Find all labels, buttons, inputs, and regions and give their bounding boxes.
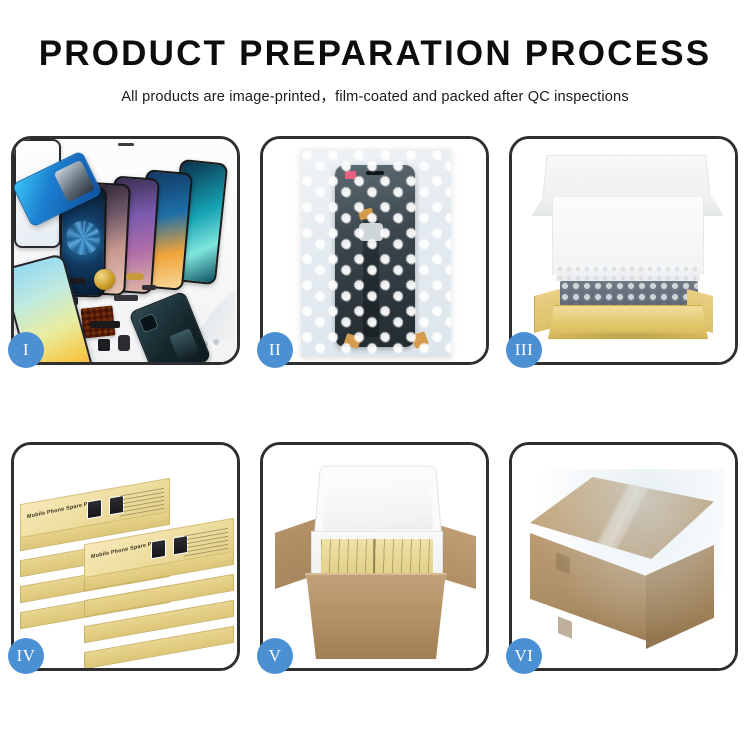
open-box-with-foam-scene: [512, 139, 735, 362]
foam-sheet-back-icon: [552, 197, 704, 275]
step-image-2: [263, 139, 486, 362]
process-step-panel-2[interactable]: II: [260, 136, 489, 365]
box-shadow: [542, 331, 714, 340]
process-step-panel-3[interactable]: III: [509, 136, 738, 365]
phones-and-parts-scene: [14, 139, 237, 362]
box-spec-text-block: [120, 485, 164, 517]
step-image-6: [512, 445, 735, 668]
gold-connector-part-icon: [126, 273, 144, 280]
page-subtitle: All products are image-printed，film-coat…: [0, 85, 750, 106]
speaker-part-icon: [98, 339, 110, 351]
bubble-wrap-bag: [301, 149, 451, 357]
phone-back-housing-icon: [128, 290, 211, 362]
step-badge-5: V: [257, 638, 293, 674]
box-artwork-screen-icon: [151, 539, 166, 560]
process-step-panel-4[interactable]: Mobile Phone Spare Parts Mobile Pho: [11, 442, 240, 671]
step-image-1: [14, 139, 237, 362]
header: PRODUCT PREPARATION PROCESS All products…: [0, 0, 750, 106]
bubble-highlight-texture: [301, 149, 451, 357]
process-step-panel-6[interactable]: VI: [509, 442, 738, 671]
foam-sheet-top-icon: [556, 265, 700, 281]
process-step-panel-5[interactable]: V: [260, 442, 489, 671]
vibration-motor-icon: [94, 269, 115, 290]
sealed-carton-scene: [512, 445, 735, 668]
step-badge-1: I: [8, 332, 44, 368]
process-step-grid: I II: [11, 136, 739, 676]
process-step-panel-1[interactable]: I: [11, 136, 240, 365]
carton-mark-icon: [558, 616, 572, 639]
carton-body-icon: [297, 575, 455, 659]
box-stack: Mobile Phone Spare Parts Mobile Pho: [18, 465, 236, 661]
step-image-4: Mobile Phone Spare Parts Mobile Pho: [14, 445, 237, 668]
step-badge-2: II: [257, 332, 293, 368]
small-part-icon: [142, 285, 156, 290]
product-preparation-infographic: PRODUCT PREPARATION PROCESS All products…: [0, 0, 750, 750]
battery-part-icon: [118, 335, 130, 351]
flex-cable-part-icon: [114, 295, 138, 301]
flex-cable-part-icon: [90, 321, 120, 328]
step-image-5: [263, 445, 486, 668]
step-badge-4: IV: [8, 638, 44, 674]
step-image-3: [512, 139, 735, 362]
box-artwork-screen-icon: [87, 499, 102, 520]
box-spec-text-block: [184, 525, 228, 557]
carton-loading-scene: [263, 445, 486, 668]
step-badge-6: VI: [506, 638, 542, 674]
stacked-boxes-scene: Mobile Phone Spare Parts Mobile Pho: [14, 445, 237, 668]
bubble-wrapped-screen-scene: [263, 139, 486, 362]
step-badge-3: III: [506, 332, 542, 368]
foam-lid-icon: [314, 466, 443, 539]
carton-right-face-icon: [646, 545, 714, 649]
page-title: PRODUCT PREPARATION PROCESS: [0, 36, 750, 71]
grey-bubble-wrap-icon: [560, 281, 698, 309]
